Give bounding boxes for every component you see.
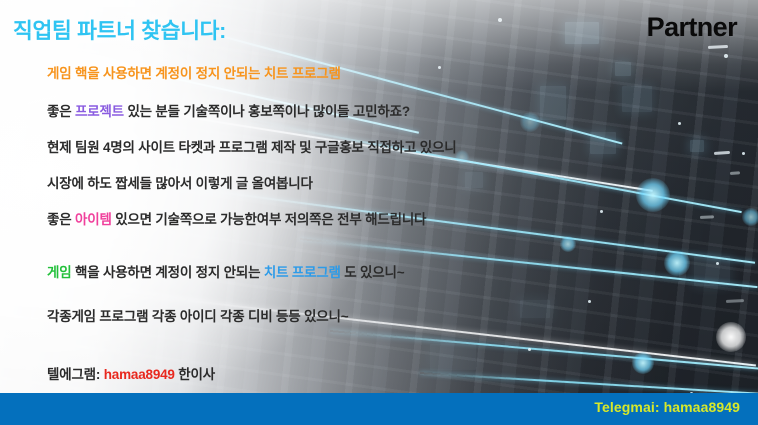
body-line-2: 현제 팀원 4명의 사이트 타켓과 프로그램 제작 및 구글홍보 직접하고 있으… (47, 136, 456, 156)
contact-line: 텔에그램: hamaa8949 한이사 (47, 363, 215, 383)
body-line-3: 시장에 하도 짭세들 많아서 이렇게 글 올여봅니다 (47, 172, 313, 192)
body-text-segment: 있으면 기술쪽으로 가능한여부 저의쪽은 전부 해드립니다 (112, 212, 427, 227)
highlight-project: 프로젝트 (75, 104, 124, 119)
body-text-segment: 시장에 하도 짭세들 많아서 이렇게 글 올여봅니다 (47, 176, 313, 191)
highlight-cheat-program: 치트 프로그램 (264, 265, 341, 280)
page-title: 직업팀 파트너 찾습니다: (13, 14, 226, 45)
highlight-game: 게임 (47, 265, 71, 280)
slide-content: 직업팀 파트너 찾습니다: Partner 게임 핵을 사용하면 계정이 정지 … (0, 0, 758, 425)
body-text-segment: 좋은 (47, 212, 75, 227)
body-line-4: 좋은 아이템 있으면 기술쪽으로 가능한여부 저의쪽은 전부 해드립니다 (47, 208, 426, 228)
body-line-6: 각종게임 프로그램 각종 아이디 각종 디비 등등 있으니~ (47, 305, 348, 325)
body-line-1: 좋은 프로젝트 있는 분들 기술쪽이나 홍보쪽이나 많이들 고민하죠? (47, 100, 410, 120)
body-line-5: 게임 핵을 사용하면 계정이 정지 안되는 치트 프로그램 도 있으니~ (47, 261, 404, 281)
contact-person: 한이사 (175, 367, 215, 382)
brand-logo-text: Partner (647, 12, 737, 43)
contact-telegram-handle[interactable]: hamaa8949 (104, 367, 175, 382)
presentation-slide: 직업팀 파트너 찾습니다: Partner 게임 핵을 사용하면 계정이 정지 … (0, 0, 758, 425)
footer-contact-text[interactable]: Telegmai: hamaa8949 (594, 399, 740, 415)
body-text-segment: 도 있으니~ (341, 265, 405, 280)
highlight-item: 아이템 (75, 212, 112, 227)
contact-label: 텔에그램: (47, 367, 104, 382)
subtitle-headline: 게임 핵을 사용하면 계정이 정지 안되는 치트 프로그램 (47, 62, 341, 82)
body-text-segment: 핵을 사용하면 계정이 정지 안되는 (71, 265, 263, 280)
body-text-segment: 좋은 (47, 104, 75, 119)
body-text-segment: 현제 팀원 4명의 사이트 타켓과 프로그램 제작 및 구글홍보 직접하고 있으… (47, 140, 456, 155)
body-text-segment: 각종게임 프로그램 각종 아이디 각종 디비 등등 있으니~ (47, 309, 348, 324)
body-text-segment: 있는 분들 기술쪽이나 홍보쪽이나 많이들 고민하죠? (124, 104, 410, 119)
